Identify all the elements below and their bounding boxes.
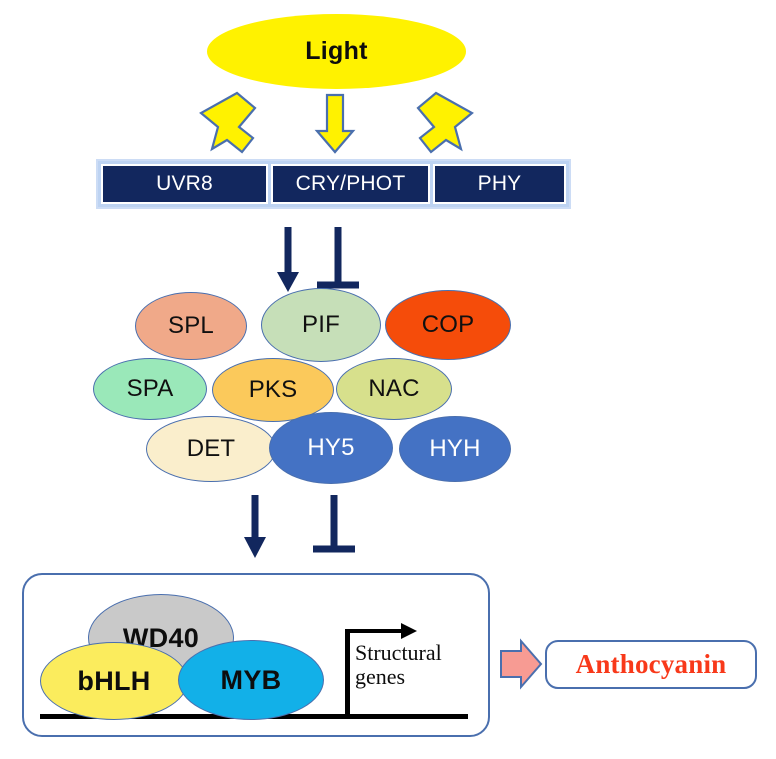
transcription-arrow-shaft xyxy=(345,629,405,633)
output-arrow xyxy=(501,641,541,687)
protein-bhlh[interactable]: bHLH xyxy=(40,642,188,720)
light-arrow-center xyxy=(317,95,353,152)
structural-genes-line-2: genes xyxy=(355,665,475,689)
regulator-spa[interactable]: SPA xyxy=(93,358,207,420)
regulator-det[interactable]: DET xyxy=(146,416,276,482)
anthocyanin-output-box[interactable]: Anthocyanin xyxy=(545,640,757,689)
transcription-start-riser xyxy=(345,629,350,715)
photoreceptor-bar: UVR8 CRY/PHOT PHY xyxy=(96,159,571,209)
transcription-arrow-head xyxy=(401,623,417,639)
light-source-node: Light xyxy=(207,14,466,89)
light-arrow-left xyxy=(201,93,255,152)
receptor-uvr8[interactable]: UVR8 xyxy=(101,164,268,204)
regulator-cop[interactable]: COP xyxy=(385,290,511,360)
structural-genes-label: Structural genes xyxy=(355,641,475,689)
structural-genes-line-1: Structural xyxy=(355,641,475,665)
protein-myb[interactable]: MYB xyxy=(178,640,324,720)
pathway-diagram: Light xyxy=(0,0,776,759)
receptor-cry-phot[interactable]: CRY/PHOT xyxy=(271,164,430,204)
inhibition-bar-to-pif xyxy=(317,227,359,285)
regulator-spl[interactable]: SPL xyxy=(135,292,247,360)
regulator-hyh[interactable]: HYH xyxy=(399,416,511,482)
regulator-pif[interactable]: PIF xyxy=(261,288,381,362)
activation-arrow-to-complex xyxy=(244,495,266,558)
regulator-hy5[interactable]: HY5 xyxy=(269,412,393,484)
inhibition-bar-to-complex xyxy=(313,495,355,549)
regulator-nac[interactable]: NAC xyxy=(336,358,452,420)
activation-arrow-to-pif xyxy=(277,227,299,292)
receptor-phy[interactable]: PHY xyxy=(433,164,566,204)
light-arrow-right xyxy=(418,93,472,152)
